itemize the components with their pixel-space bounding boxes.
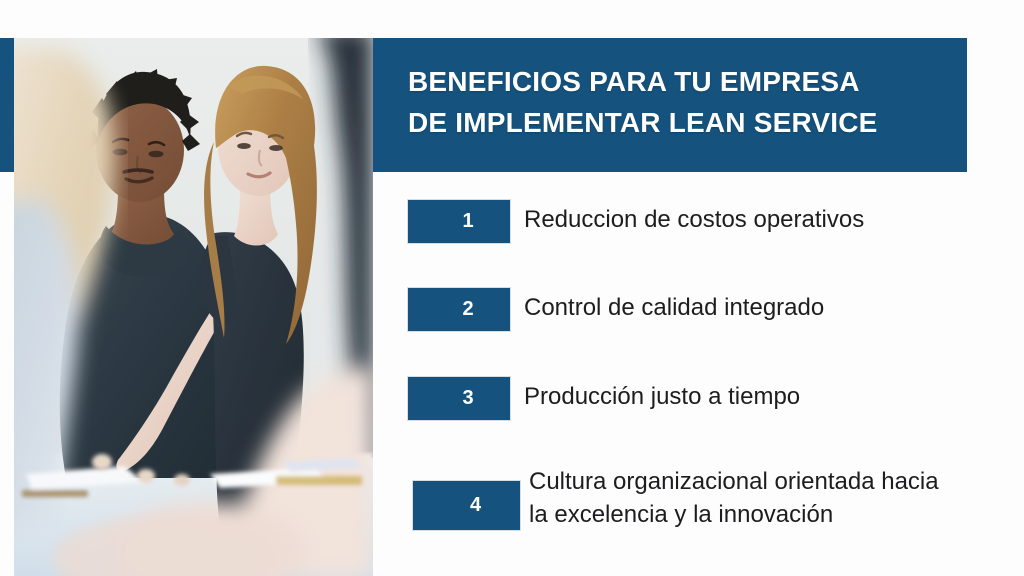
team-meeting-photo [14, 38, 373, 576]
benefit-number-badge-1: 1 [408, 200, 510, 243]
benefit-label-3: Producción justo a tiempo [524, 377, 954, 413]
benefit-item-2: 2 Control de calidad integrado [373, 288, 1013, 332]
benefit-number-badge-3: 3 [408, 377, 510, 420]
benefits-list: 1 Reduccion de costos operativos 2 Contr… [373, 186, 1013, 531]
page-title-line-1: BENEFICIOS PARA TU EMPRESA [408, 61, 953, 102]
benefit-label-1: Reduccion de costos operativos [524, 200, 954, 236]
photo-illustration [14, 38, 373, 576]
benefit-label-4: Cultura organizacional orientada hacia l… [529, 465, 949, 531]
title-banner: BENEFICIOS PARA TU EMPRESA DE IMPLEMENTA… [373, 38, 967, 172]
left-accent-band [0, 38, 14, 172]
benefit-item-3: 3 Producción justo a tiempo [373, 377, 1013, 421]
benefit-item-1: 1 Reduccion de costos operativos [373, 200, 1013, 244]
benefit-label-2: Control de calidad integrado [524, 288, 954, 324]
slide-root: BENEFICIOS PARA TU EMPRESA DE IMPLEMENTA… [0, 0, 1024, 576]
page-title: BENEFICIOS PARA TU EMPRESA DE IMPLEMENTA… [408, 61, 953, 143]
benefit-item-4: 4 Cultura organizacional orientada hacia… [373, 465, 1013, 531]
benefit-number-badge-2: 2 [408, 288, 510, 331]
page-title-line-2: DE IMPLEMENTAR LEAN SERVICE [408, 102, 953, 143]
benefit-number-badge-4: 4 [413, 481, 520, 530]
